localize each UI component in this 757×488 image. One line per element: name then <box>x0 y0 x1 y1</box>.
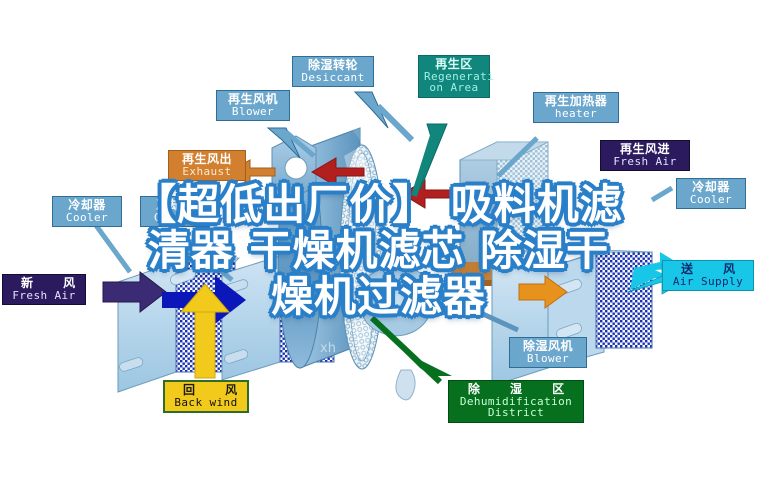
callout-desiccant-cn: 除湿转轮 <box>298 59 368 72</box>
callout-regeneration-exhaust[interactable]: 再生风出 Exhaust <box>168 150 246 181</box>
callout-dehumidification-blower-en: Blower <box>515 353 581 365</box>
callout-regeneration-exhaust-cn: 再生风出 <box>174 153 240 166</box>
left-cooler-unit <box>118 258 239 392</box>
callout-regeneration-heater-cn: 再生加热器 <box>539 95 613 108</box>
callout-desiccant[interactable]: 除湿转轮 Desiccant <box>292 56 374 87</box>
svg-text:xh: xh <box>320 341 336 356</box>
callout-air-supply[interactable]: 送 风 Air Supply <box>662 260 754 291</box>
callout-cooler-mid[interactable]: 冷却器 Cooler <box>140 196 210 227</box>
callout-regeneration-area[interactable]: 再生区 Regenerati on Area <box>418 55 490 98</box>
regeneration-heater <box>448 142 566 286</box>
callout-back-wind-cn: 回 风 <box>170 384 242 397</box>
callout-regeneration-exhaust-en: Exhaust <box>174 166 240 178</box>
callout-regeneration-heater[interactable]: 再生加热器 heater <box>533 92 619 123</box>
callout-cooler-left-cn: 冷却器 <box>58 199 116 212</box>
callout-fresh-air[interactable]: 新 风 Fresh Air <box>2 274 86 305</box>
callout-back-wind[interactable]: 回 风 Back wind <box>163 380 249 413</box>
callout-regeneration-inlet-cn: 再生风进 <box>606 143 684 156</box>
callout-regeneration-heater-en: heater <box>539 108 613 120</box>
callout-cooler-right[interactable]: 冷却器 Cooler <box>676 178 746 209</box>
callout-regeneration-blower[interactable]: 再生风机 Blower <box>216 90 290 121</box>
callout-back-wind-en: Back wind <box>170 397 242 409</box>
callout-air-supply-cn: 送 风 <box>668 263 748 276</box>
callout-cooler-mid-en: Cooler <box>146 212 204 224</box>
callout-dehumidification-district-cn: 除 湿 区 <box>454 383 578 396</box>
callout-desiccant-en: Desiccant <box>298 72 368 84</box>
callout-dehumidification-district[interactable]: 除 湿 区 Dehumidification District <box>448 380 584 423</box>
callout-cooler-right-en: Cooler <box>682 194 740 206</box>
callout-fresh-air-cn: 新 风 <box>8 277 80 290</box>
callout-dehumidification-district-en-line2: District <box>454 407 578 419</box>
callout-cooler-mid-cn: 冷却器 <box>146 199 204 212</box>
regen-inlet-arrow <box>402 180 456 208</box>
dehumidification-blower-unit <box>360 250 652 386</box>
diagram-canvas: xh <box>0 0 757 488</box>
callout-cooler-left[interactable]: 冷却器 Cooler <box>52 196 122 227</box>
callout-fresh-air-en: Fresh Air <box>8 290 80 302</box>
callout-regeneration-area-en-line2: on Area <box>424 82 484 94</box>
callout-regeneration-area-cn: 再生区 <box>424 58 484 71</box>
callout-air-supply-en: Air Supply <box>668 276 748 288</box>
callout-dehumidification-blower[interactable]: 除湿风机 Blower <box>509 337 587 368</box>
callout-regeneration-inlet[interactable]: 再生风进 Fresh Air <box>600 140 690 171</box>
callout-regeneration-blower-cn: 再生风机 <box>222 93 284 106</box>
callout-dehumidification-blower-cn: 除湿风机 <box>515 340 581 353</box>
callout-cooler-right-cn: 冷却器 <box>682 181 740 194</box>
dehumidifier-schematic-artwork: xh <box>0 0 757 488</box>
callout-regeneration-blower-en: Blower <box>222 106 284 118</box>
callout-cooler-left-en: Cooler <box>58 212 116 224</box>
callout-regeneration-inlet-en: Fresh Air <box>606 156 684 168</box>
